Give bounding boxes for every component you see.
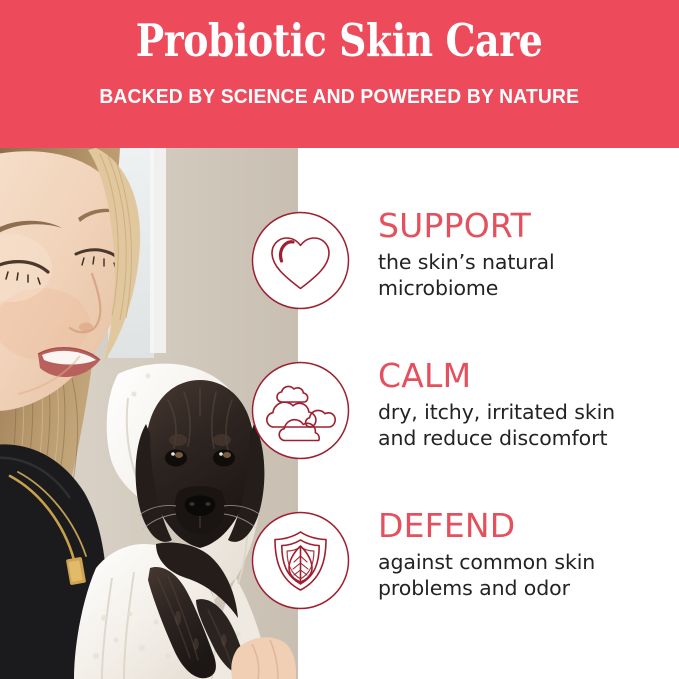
product-infographic-card: Probiotic Skin Care BACKED BY SCIENCE AN… (0, 0, 679, 679)
feature-support-line-1: the skin’s natural (378, 249, 678, 275)
feature-defend-text: DEFEND against common skin problems and … (378, 508, 678, 601)
feature-calm-line-1: dry, itchy, irritated skin (378, 399, 678, 425)
clouds-icon (250, 360, 351, 461)
feature-calm: CALM dry, itchy, irritated skin and redu… (298, 358, 679, 508)
feature-support-heading: SUPPORT (378, 208, 678, 244)
page-subtitle: BACKED BY SCIENCE AND POWERED BY NATURE (100, 85, 580, 109)
feature-defend: DEFEND against common skin problems and … (298, 508, 679, 658)
heart-icon (250, 210, 351, 311)
feature-defend-heading: DEFEND (378, 508, 678, 544)
feature-support: SUPPORT the skin’s natural microbiome (298, 208, 679, 358)
page-title: Probiotic Skin Care (136, 18, 543, 63)
feature-support-text: SUPPORT the skin’s natural microbiome (378, 208, 678, 301)
feature-defend-line-2: problems and odor (378, 575, 678, 601)
features-panel: SUPPORT the skin’s natural microbiome (298, 148, 679, 679)
feature-support-body: the skin’s natural microbiome (378, 249, 678, 301)
feature-support-line-2: microbiome (378, 275, 678, 301)
header-banner: Probiotic Skin Care BACKED BY SCIENCE AN… (0, 0, 679, 148)
shield-leaf-icon (250, 510, 351, 611)
feature-calm-heading: CALM (378, 358, 678, 394)
feature-calm-line-2: and reduce discomfort (378, 425, 678, 451)
feature-defend-body: against common skin problems and odor (378, 549, 678, 601)
feature-defend-line-1: against common skin (378, 549, 678, 575)
feature-calm-body: dry, itchy, irritated skin and reduce di… (378, 399, 678, 451)
feature-calm-text: CALM dry, itchy, irritated skin and redu… (378, 358, 678, 451)
